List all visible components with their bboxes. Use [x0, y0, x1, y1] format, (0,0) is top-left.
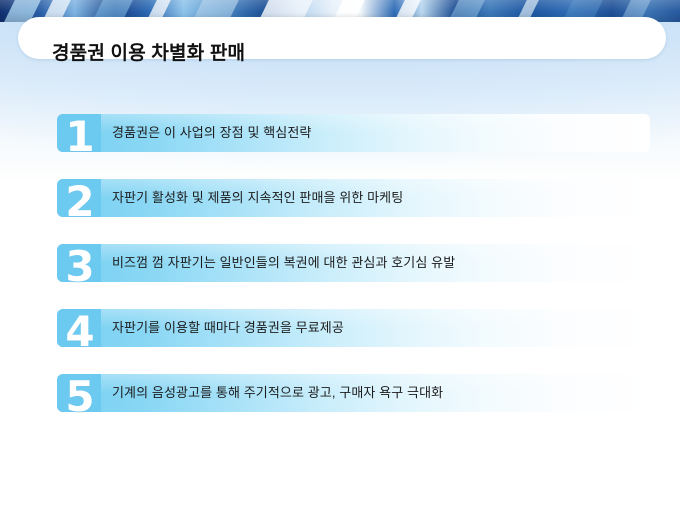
list-item[interactable]: 2 자판기 활성화 및 제품의 지속적인 판매을 위한 마케팅 [0, 173, 680, 238]
list-item[interactable]: 3 비즈껌 껌 자판기는 일반인들의 복권에 대한 관심과 호기심 유발 [0, 238, 680, 303]
title-pill: 경품권 이용 차별화 판매 [18, 17, 666, 59]
page-title: 경품권 이용 차별화 판매 [52, 33, 245, 75]
list-item-number: 3 [57, 240, 103, 294]
list-item-label: 기계의 음성광고를 통해 주기적으로 광고, 구매자 욕구 극대화 [112, 374, 443, 412]
list-item-label: 경품권은 이 사업의 장점 및 핵심전략 [112, 114, 311, 152]
list-item[interactable]: 5 기계의 음성광고를 통해 주기적으로 광고, 구매자 욕구 극대화 [0, 368, 680, 433]
list-item-number: 5 [57, 370, 103, 424]
list-item-label: 비즈껌 껌 자판기는 일반인들의 복권에 대한 관심과 호기심 유발 [112, 244, 455, 282]
bullet-list: 1 경품권은 이 사업의 장점 및 핵심전략 2 자판기 활성화 및 제품의 지… [0, 108, 680, 433]
list-item-label: 자판기를 이용할 때마다 경품권을 무료제공 [112, 309, 344, 347]
slide: 경품권 이용 차별화 판매 1 경품권은 이 사업의 장점 및 핵심전략 2 자… [0, 0, 680, 510]
list-item-number: 1 [57, 110, 103, 164]
list-item-number: 2 [57, 175, 103, 229]
list-item[interactable]: 1 경품권은 이 사업의 장점 및 핵심전략 [0, 108, 680, 173]
list-item[interactable]: 4 자판기를 이용할 때마다 경품권을 무료제공 [0, 303, 680, 368]
list-item-number: 4 [57, 305, 103, 359]
list-item-label: 자판기 활성화 및 제품의 지속적인 판매을 위한 마케팅 [112, 179, 403, 217]
